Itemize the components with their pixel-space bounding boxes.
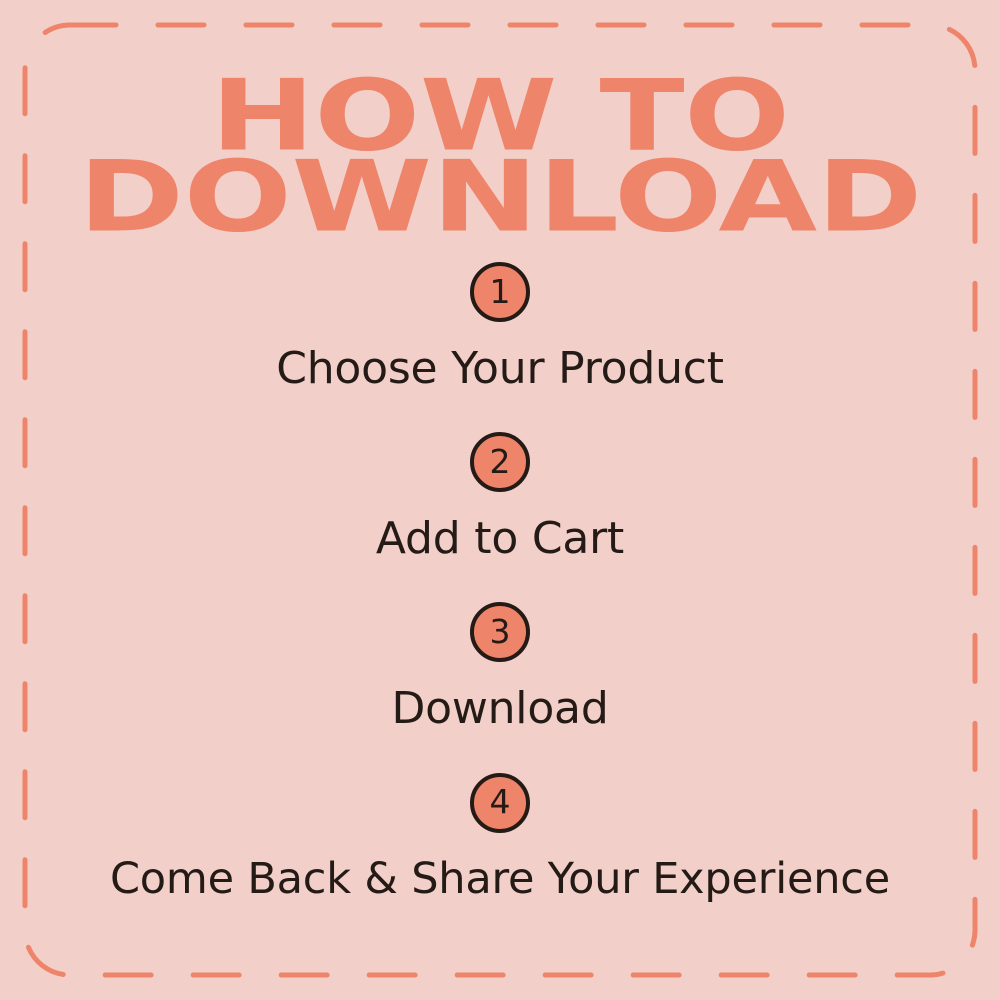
step-item-4: 4 Come Back & Share Your Experience — [0, 773, 1000, 902]
step-label-2: Add to Cart — [0, 516, 1000, 562]
step-number-badge-4: 4 — [470, 773, 530, 833]
step-number-badge-2: 2 — [470, 432, 530, 492]
how-to-download-poster: HOW TO DOWNLOAD 1 Choose Your Product 2 … — [0, 0, 1000, 1000]
step-number-3: 3 — [490, 615, 511, 648]
step-label-3: Download — [0, 686, 1000, 732]
step-number-4: 4 — [490, 785, 511, 818]
step-item-3: 3 Download — [0, 602, 1000, 732]
step-number-2: 2 — [490, 445, 511, 478]
page-title: HOW TO DOWNLOAD — [0, 78, 1000, 234]
step-label-1: Choose Your Product — [0, 346, 1000, 392]
step-number-1: 1 — [490, 275, 511, 308]
title-line-download: DOWNLOAD — [0, 159, 1000, 235]
steps-list: 1 Choose Your Product 2 Add to Cart 3 Do… — [0, 262, 1000, 902]
step-item-1: 1 Choose Your Product — [0, 262, 1000, 392]
step-number-badge-3: 3 — [470, 602, 530, 662]
step-item-2: 2 Add to Cart — [0, 432, 1000, 562]
step-number-badge-1: 1 — [470, 262, 530, 322]
step-label-4: Come Back & Share Your Experience — [0, 857, 1000, 902]
